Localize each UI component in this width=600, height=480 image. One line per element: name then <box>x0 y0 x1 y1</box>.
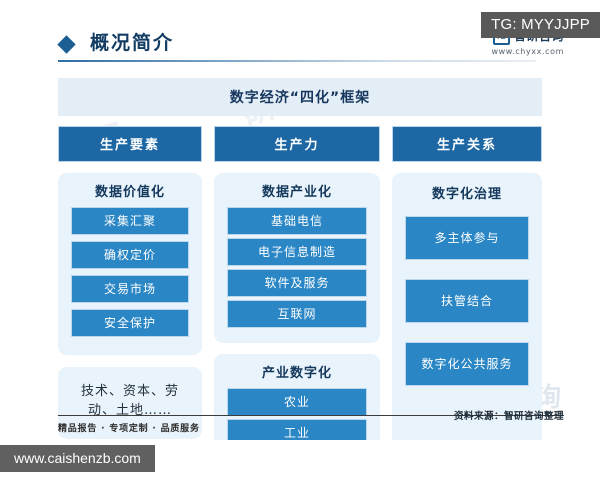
panel-item[interactable]: 确权定价 <box>71 241 189 269</box>
slide-canvas: 智 研 咨 询 智 概况简介 卍 智研咨询 www.chyxx.com 数字经济… <box>30 22 570 440</box>
panel-item[interactable]: 多主体参与 <box>405 216 529 260</box>
brand-url: www.chyxx.com <box>491 48 564 57</box>
panel-item[interactable]: 安全保护 <box>71 309 189 337</box>
column-header: 生产要素 <box>58 126 202 162</box>
panel-item[interactable]: 软件及服务 <box>227 269 367 297</box>
diagram-columns: 生产要素 数据价值化 采集汇聚 确权定价 交易市场 安全保护 技术、资本、劳动、… <box>58 126 542 440</box>
diagram-title: 数字经济“四化”框架 <box>58 78 542 116</box>
panel-item[interactable]: 基础电信 <box>227 207 367 235</box>
panel-digital-governance: 数字化治理 多主体参与 扶管结合 数字化公共服务 <box>392 173 542 440</box>
site-url-watermark-badge: www.caishenzb.com <box>0 445 155 472</box>
panel-item[interactable]: 数字化公共服务 <box>405 342 529 386</box>
diagram-column-production-factors: 生产要素 数据价值化 采集汇聚 确权定价 交易市场 安全保护 技术、资本、劳动、… <box>58 126 202 440</box>
panel-item[interactable]: 电子信息制造 <box>227 238 367 266</box>
column-header: 生产力 <box>214 126 380 162</box>
panel-title: 数据产业化 <box>227 181 367 200</box>
panel-title: 数字化治理 <box>405 183 529 202</box>
panel-title: 产业数字化 <box>227 362 367 381</box>
diagram-column-productivity: 生产力 数据产业化 基础电信 电子信息制造 软件及服务 互联网 产业数字化 农业… <box>214 126 380 440</box>
panel-title: 数据价值化 <box>71 181 189 200</box>
diamond-icon <box>57 35 75 53</box>
page-title: 概况简介 <box>90 28 174 55</box>
panel-item[interactable]: 互联网 <box>227 300 367 328</box>
framework-diagram: 数字经济“四化”框架 生产要素 数据价值化 采集汇聚 确权定价 交易市场 安全保… <box>58 78 542 440</box>
panel-data-industrialization: 数据产业化 基础电信 电子信息制造 软件及服务 互联网 <box>214 173 380 343</box>
column-header: 生产关系 <box>392 126 542 162</box>
panel-item[interactable]: 采集汇聚 <box>71 207 189 235</box>
header-divider <box>58 60 536 62</box>
diagram-column-production-relations: 生产关系 数字化治理 多主体参与 扶管结合 数字化公共服务 <box>392 126 542 440</box>
source-note: 资料来源：智研咨询整理 <box>454 408 564 422</box>
panel-item[interactable]: 扶管结合 <box>405 279 529 323</box>
panel-item[interactable]: 农业 <box>227 388 367 416</box>
telegram-watermark-badge: TG: MYYJJPP <box>481 12 600 38</box>
panel-item[interactable]: 交易市场 <box>71 275 189 303</box>
panel-data-valuation: 数据价值化 采集汇聚 确权定价 交易市场 安全保护 <box>58 173 202 355</box>
footer-row: 精品报告 · 专项定制 · 品质服务 <box>58 421 564 434</box>
footer-tagline: 精品报告 · 专项定制 · 品质服务 <box>58 421 200 434</box>
